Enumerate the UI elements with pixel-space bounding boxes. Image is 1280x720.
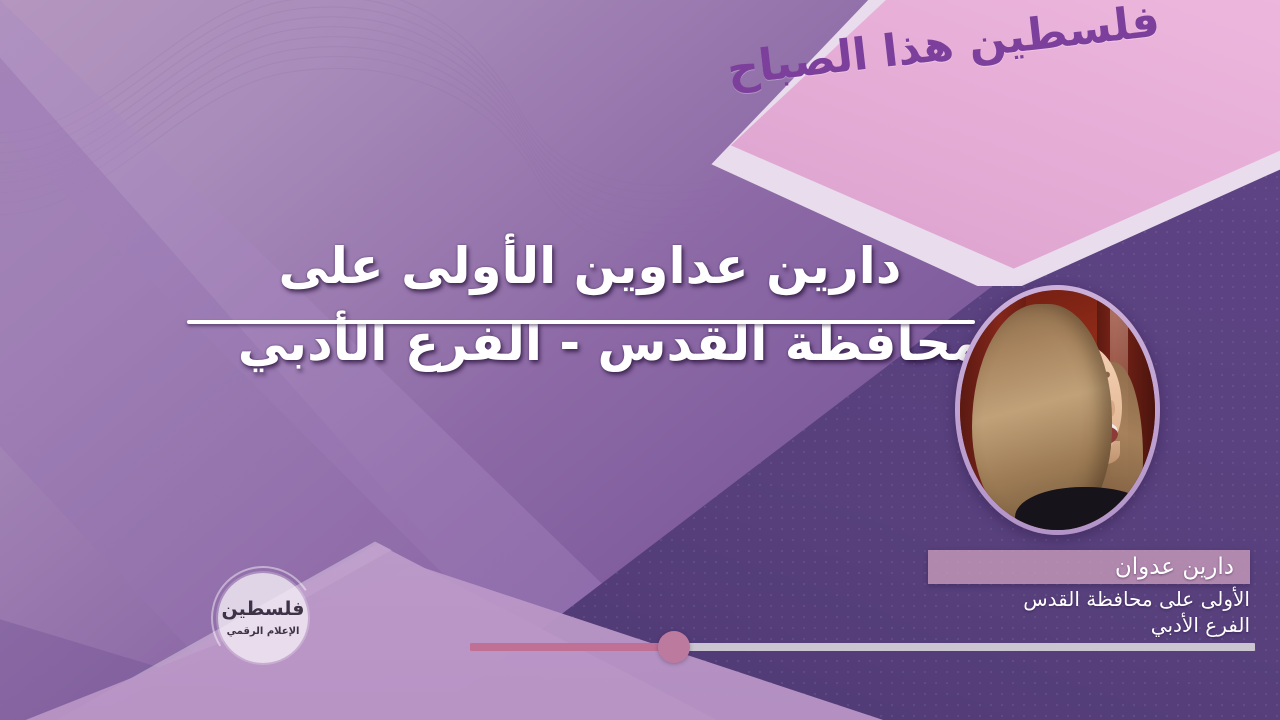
lower-third-name: دارين عدوان	[928, 550, 1240, 584]
video-progress-handle[interactable]	[658, 631, 690, 663]
lower-third-subtitle: الأولى على محافظة القدس الفرع الأدبي	[900, 586, 1250, 639]
watermark-secondary-text: الإعلام الرقمي	[227, 626, 300, 637]
broadcast-video-frame: فلسطين هذا الصباح دارين عداوين الأولى عل…	[0, 0, 1280, 720]
watermark-primary-text: فلسطين	[222, 600, 305, 619]
video-progress-fill[interactable]	[470, 643, 675, 651]
channel-watermark-logo: فلسطين الإعلام الرقمي	[218, 573, 308, 663]
headline-divider	[187, 320, 975, 324]
guest-portrait-image	[960, 290, 1155, 530]
lower-third-subtitle-line-2: الفرع الأدبي	[906, 612, 1250, 638]
lower-third-subtitle-line-1: الأولى على محافظة القدس	[906, 586, 1250, 612]
guest-avatar	[955, 285, 1160, 535]
